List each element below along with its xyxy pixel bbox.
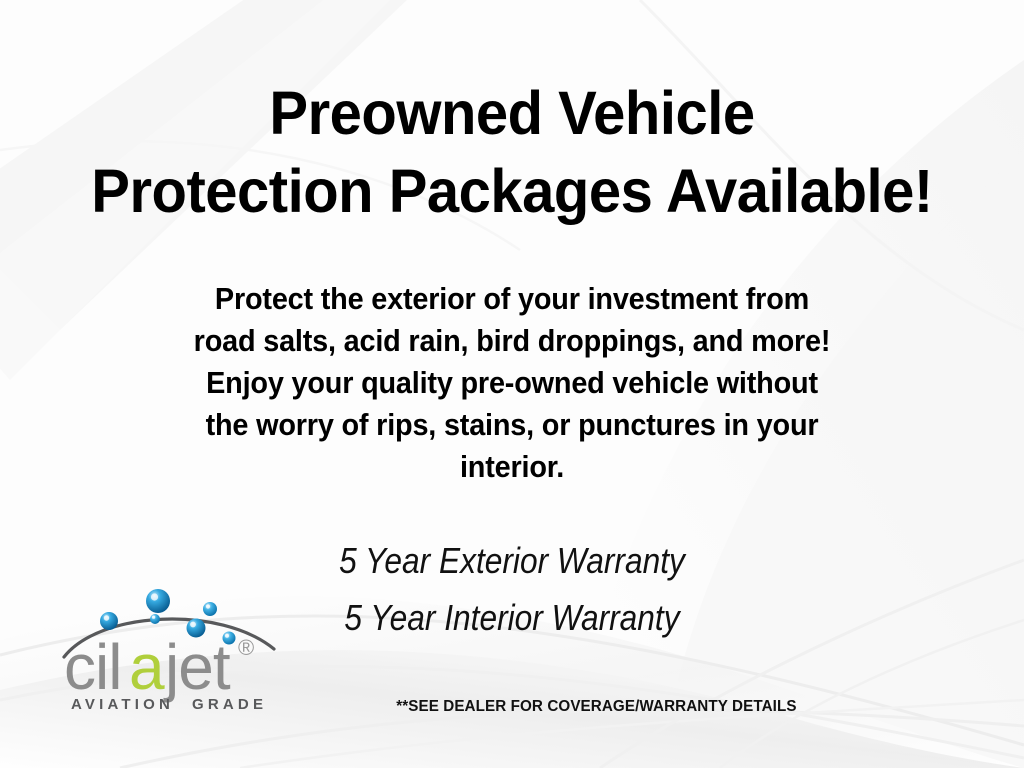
- warranty-exterior: 5 Year Exterior Warranty: [61, 532, 962, 589]
- bead-small-icon: [150, 614, 160, 624]
- logo-wordmark-part2: jet: [163, 631, 231, 703]
- logo-wordmark-part1: cil: [64, 631, 121, 703]
- bead-left-icon: [100, 612, 118, 630]
- body-paragraph: Protect the exterior of your investment …: [0, 278, 1024, 488]
- body-line-4: the worry of rips, stains, or punctures …: [36, 404, 988, 446]
- registered-trademark-icon: ®: [238, 635, 254, 660]
- bead-medium-icon: [203, 602, 217, 616]
- body-line-2: road salts, acid rain, bird droppings, a…: [36, 320, 988, 362]
- headline-line-2: Protection Packages Available!: [26, 152, 999, 230]
- bead-highlight: [190, 622, 196, 628]
- headline-line-1: Preowned Vehicle: [26, 74, 999, 152]
- logo-tagline-right: GRADE: [192, 696, 267, 713]
- body-line-1: Protect the exterior of your investment …: [36, 278, 988, 320]
- bead-highlight: [206, 604, 210, 608]
- body-line-5: interior.: [36, 446, 988, 488]
- headline: Preowned Vehicle Protection Packages Ava…: [0, 74, 1024, 230]
- bead-highlight: [104, 615, 109, 620]
- slide-canvas: Preowned Vehicle Protection Packages Ava…: [0, 0, 1024, 768]
- bead-highlight: [151, 593, 158, 600]
- bead-highlight: [152, 616, 155, 619]
- bead-large-icon: [146, 589, 170, 613]
- cilajet-logo: cil a jet ® AVIATION GRADE: [60, 585, 300, 715]
- logo-tagline-left: AVIATION: [71, 696, 174, 713]
- cilajet-logo-svg: cil a jet ® AVIATION GRADE: [60, 585, 300, 715]
- logo-wordmark-accent: a: [129, 631, 165, 703]
- body-line-3: Enjoy your quality pre-owned vehicle wit…: [36, 362, 988, 404]
